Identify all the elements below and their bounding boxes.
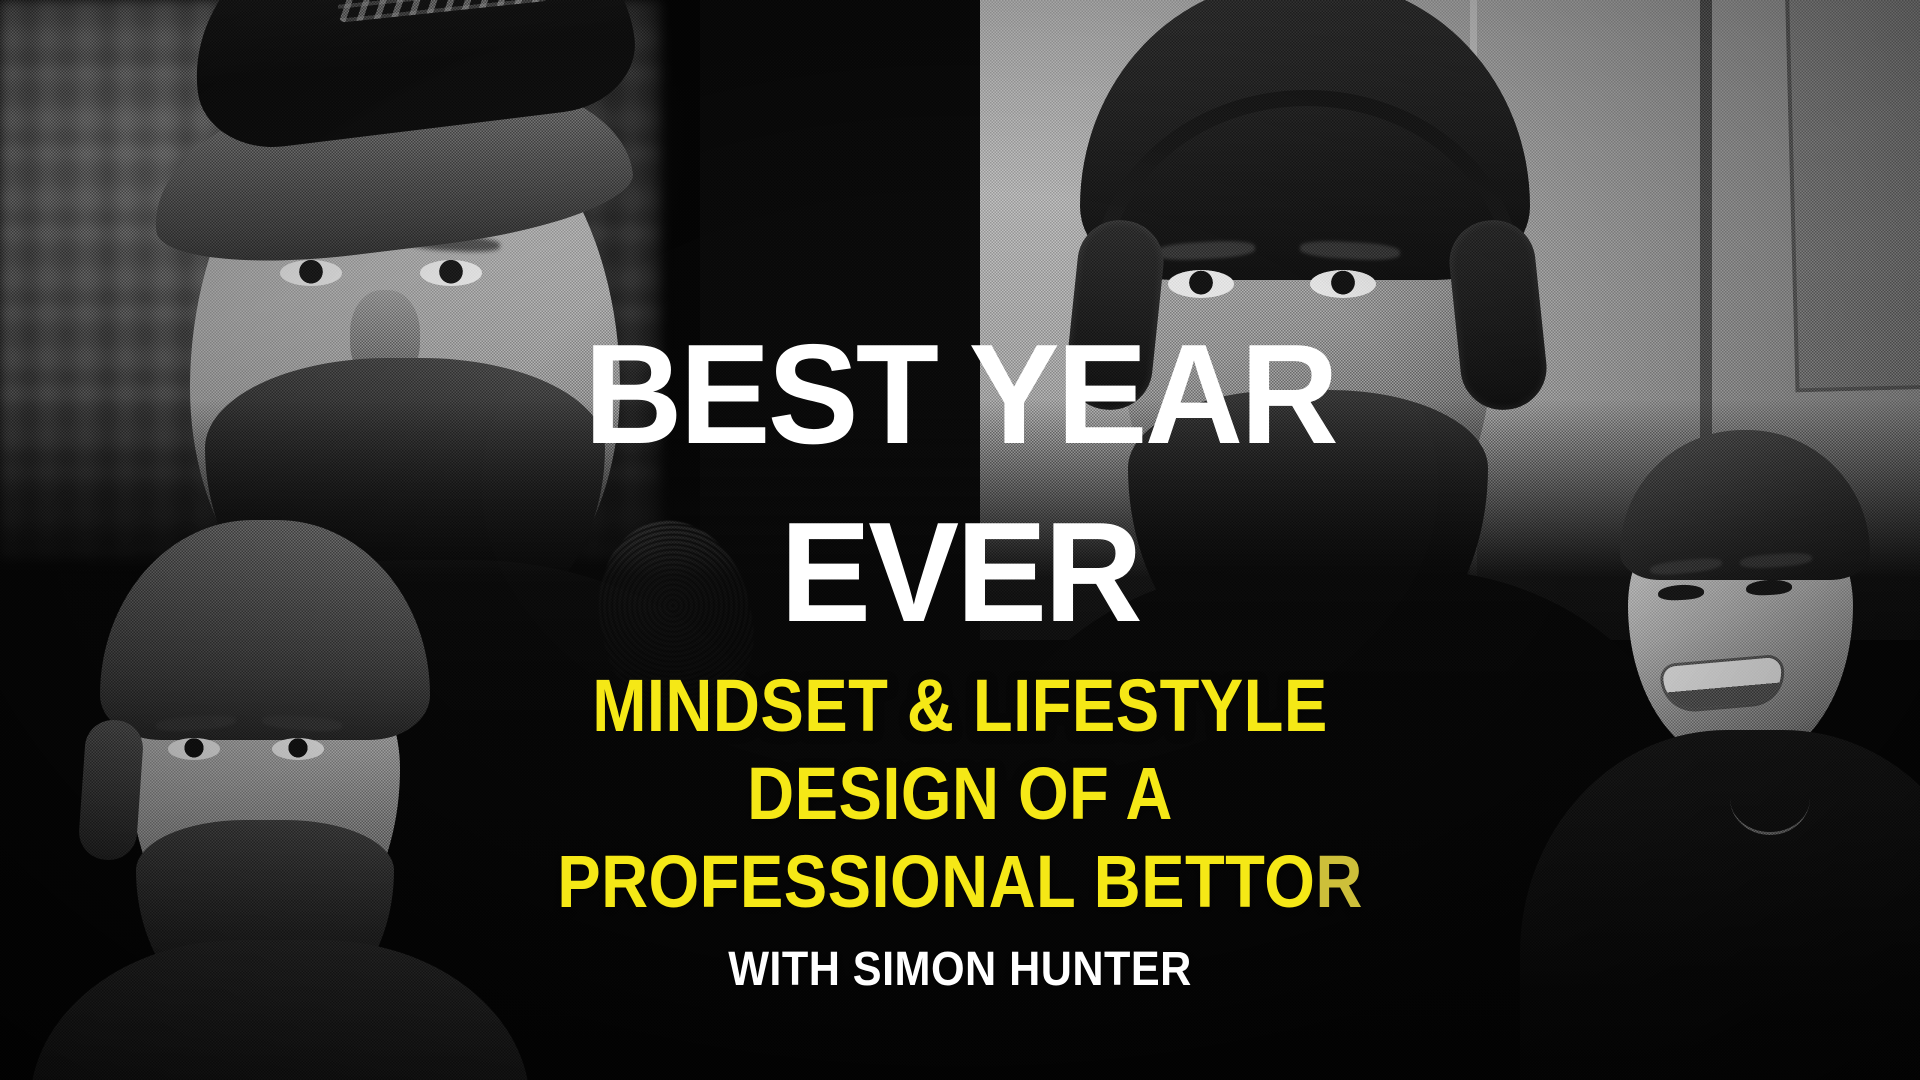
inset-man-hair: [100, 520, 430, 740]
inset-man-eye-right: [272, 738, 324, 760]
person-man-inset: [60, 520, 480, 1020]
framed-artwork: [1785, 0, 1920, 392]
cap-man-eye-right: [420, 260, 482, 286]
inset-man-torso: [30, 940, 530, 1080]
inset-headphone-cup: [77, 718, 145, 862]
cap-man-eye-left: [280, 260, 342, 286]
inset-man-eye-left: [168, 738, 220, 760]
smiling-man-torso: [1520, 730, 1920, 1080]
person-man-smiling: [1580, 430, 1920, 1080]
thumbnail-canvas: BEST YEAR EVER MINDSET & LIFESTYLE DESIG…: [0, 0, 1920, 1080]
necklace-chain: [1730, 762, 1810, 835]
